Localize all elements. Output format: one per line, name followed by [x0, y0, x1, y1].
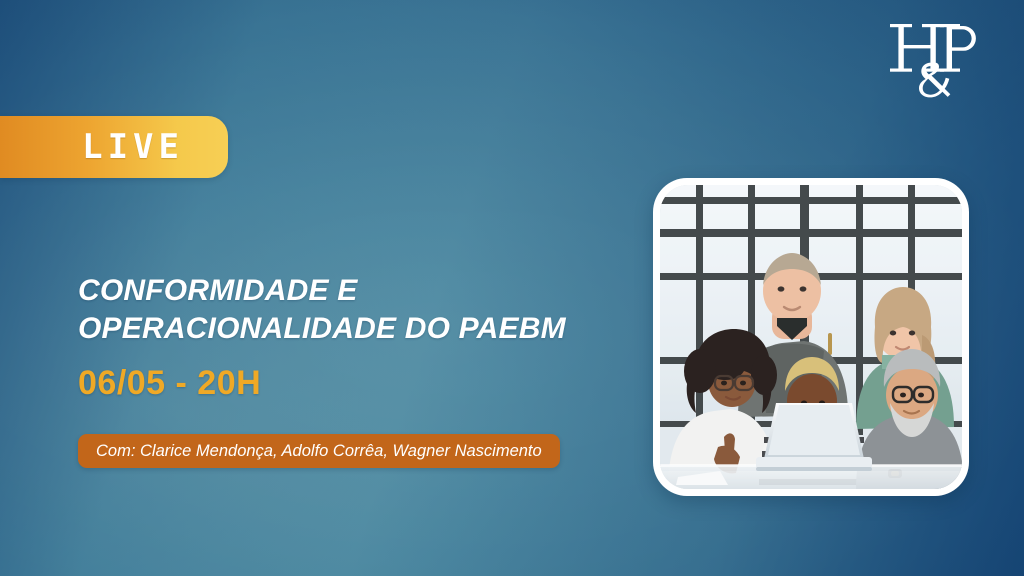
page-title-line-2: OPERACIONALIDADE DO PAEBM: [78, 310, 638, 348]
speakers-label: Com: Clarice Mendonça, Adolfo Corrêa, Wa…: [96, 443, 542, 460]
event-datetime: 06/05 - 20H: [78, 366, 261, 400]
logo-letter-p: [940, 24, 976, 72]
photo-frame: [653, 178, 969, 496]
live-badge-label: LIVE: [82, 130, 184, 164]
logo-ampersand: [919, 63, 950, 98]
page-title: CONFORMIDADE E OPERACIONALIDADE DO PAEBM: [78, 272, 638, 349]
live-badge: LIVE: [0, 116, 228, 178]
page-title-line-1: CONFORMIDADE E: [78, 272, 638, 310]
speakers-badge: Com: Clarice Mendonça, Adolfo Corrêa, Wa…: [78, 434, 560, 468]
brand-logo: [884, 18, 980, 102]
promo-banner: LIVE CONFORMIDADE E OPERACIONALIDADE DO …: [0, 0, 1024, 576]
photo-group-meeting: [660, 185, 962, 489]
